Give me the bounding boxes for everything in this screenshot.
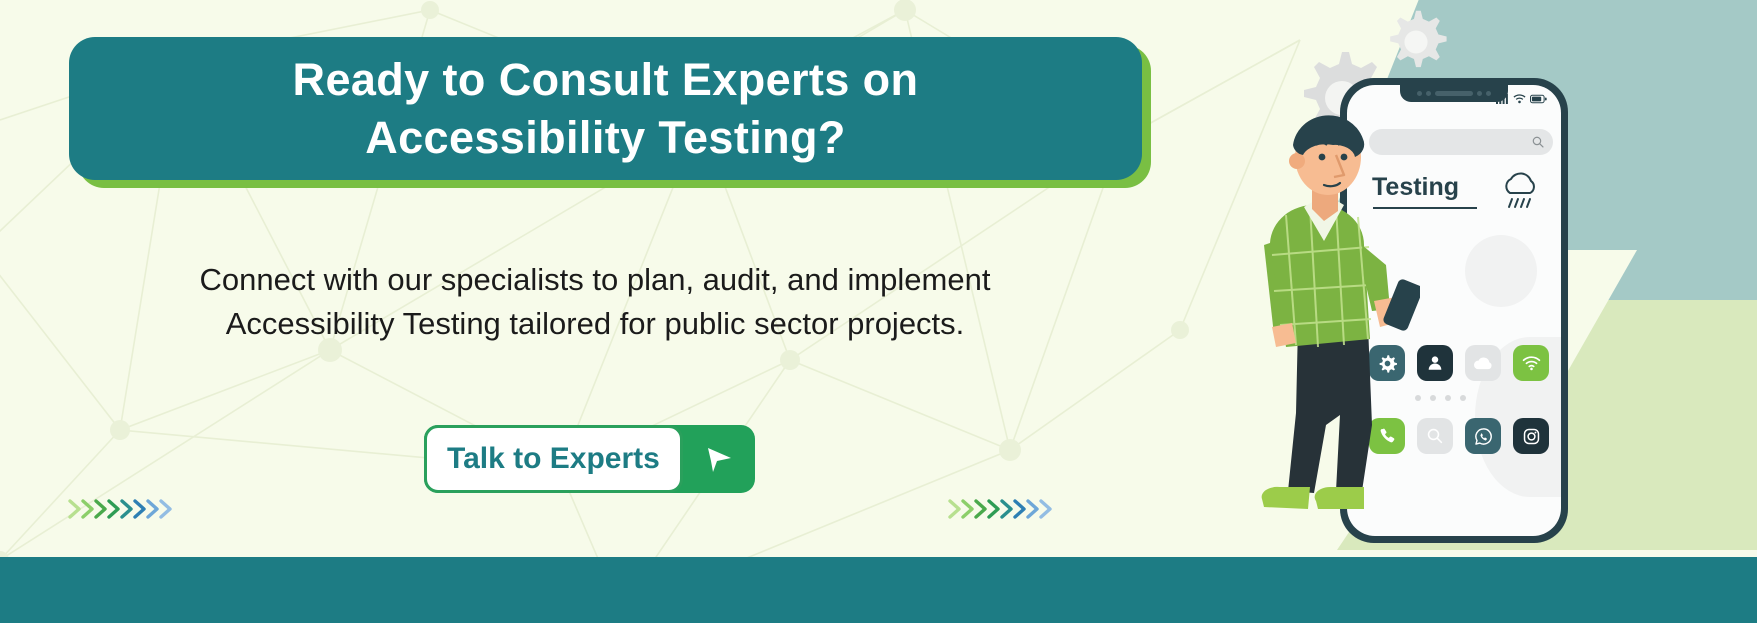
rain-cloud-icon bbox=[1497, 171, 1545, 213]
gear-icon-small bbox=[1382, 8, 1450, 76]
cta-label[interactable]: Talk to Experts bbox=[424, 425, 683, 493]
notch-dot bbox=[1477, 91, 1482, 96]
page-dot bbox=[1430, 395, 1436, 401]
notch-dot bbox=[1426, 91, 1431, 96]
cloud-icon[interactable] bbox=[1465, 345, 1501, 381]
wifi-icon[interactable] bbox=[1513, 345, 1549, 381]
footer-bar bbox=[0, 557, 1757, 623]
heading-plaque: Ready to Consult Experts on Accessibilit… bbox=[69, 37, 1142, 180]
talk-to-experts-button[interactable]: Talk to Experts bbox=[424, 425, 755, 493]
status-bar bbox=[1496, 93, 1547, 104]
send-icon[interactable] bbox=[683, 425, 755, 493]
page-dot bbox=[1445, 395, 1451, 401]
page-dot bbox=[1460, 395, 1466, 401]
whatsapp-icon[interactable] bbox=[1465, 418, 1501, 454]
wifi-icon bbox=[1513, 93, 1526, 104]
person-illustration bbox=[1240, 95, 1420, 515]
heading-line-1: Ready to Consult Experts on bbox=[293, 51, 919, 109]
chevron-group-right bbox=[948, 496, 1052, 522]
notch-dot bbox=[1486, 91, 1491, 96]
instagram-icon[interactable] bbox=[1513, 418, 1549, 454]
heading-line-2: Accessibility Testing? bbox=[365, 109, 846, 167]
subcopy: Connect with our specialists to plan, au… bbox=[60, 258, 1130, 346]
person-icon[interactable] bbox=[1417, 345, 1453, 381]
subcopy-line-2: Accessibility Testing tailored for publi… bbox=[60, 302, 1130, 346]
decorative-blob bbox=[1465, 235, 1537, 307]
page-dots bbox=[1415, 395, 1466, 401]
subcopy-line-1: Connect with our specialists to plan, au… bbox=[60, 258, 1130, 302]
signal-icon bbox=[1496, 93, 1509, 104]
search-icon bbox=[1532, 136, 1544, 148]
search-icon[interactable] bbox=[1417, 418, 1453, 454]
cta-banner: Ready to Consult Experts on Accessibilit… bbox=[0, 0, 1757, 623]
chevron-group-left bbox=[68, 496, 172, 522]
battery-icon bbox=[1530, 94, 1547, 104]
notch-speaker bbox=[1435, 91, 1473, 96]
